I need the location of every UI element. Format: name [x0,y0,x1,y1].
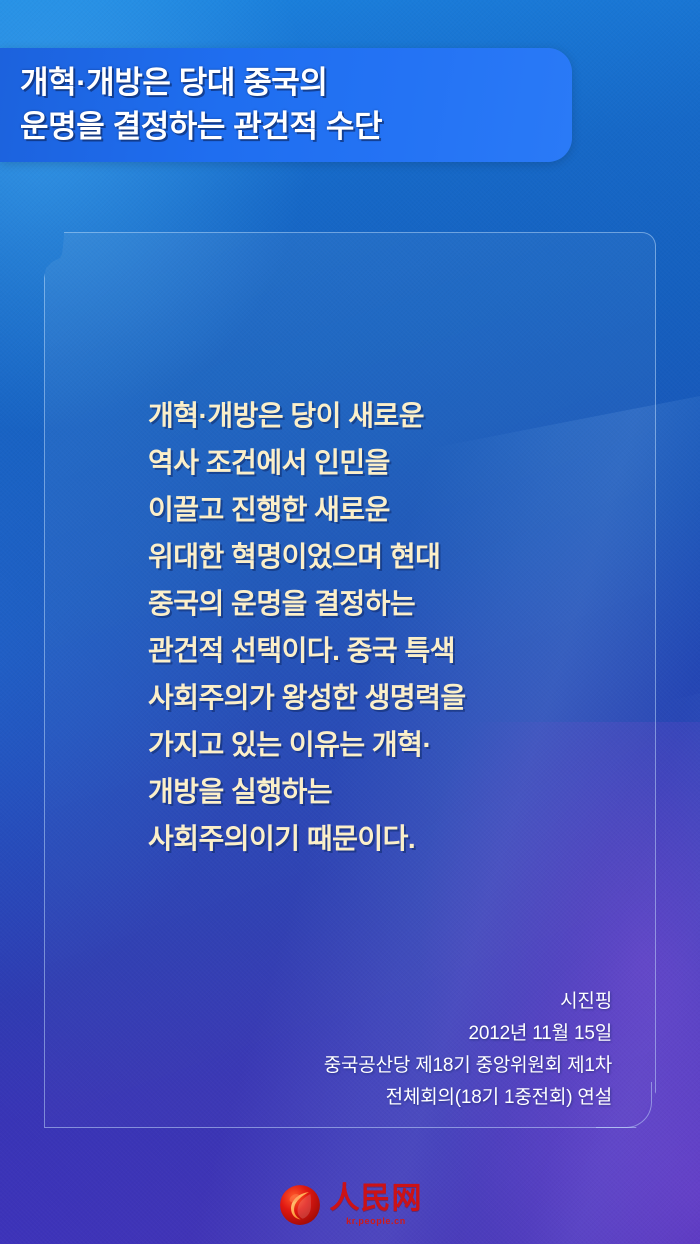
quote-line: 위대한 혁명이었으며 현대 [148,533,628,580]
quote-line: 개방을 실행하는 [148,768,628,815]
logo-wordmark: 人民网 [330,1184,423,1214]
quote-line: 관건적 선택이다. 중국 특색 [148,627,628,674]
attribution-event-line-1: 중국공산당 제18기 중앙위원회 제1차 [192,1050,612,1082]
logo-text-group: 人民网 kr.people.cn [330,1184,423,1226]
quote-text: 개혁·개방은 당이 새로운 역사 조건에서 인민을 이끌고 진행한 새로운 위대… [148,392,628,862]
page-title-line-2: 운명을 결정하는 관건적 수단 [20,106,580,148]
page-title-line-1: 개혁·개방은 당대 중국의 [20,62,580,104]
quote-line: 이끌고 진행한 새로운 [148,486,628,533]
quote-line: 역사 조건에서 인민을 [148,439,628,486]
poster-canvas: 개혁·개방은 당대 중국의 운명을 결정하는 관건적 수단 개혁·개방은 당이 … [0,0,700,1244]
attribution-date: 2012년 11월 15일 [192,1018,612,1050]
publisher-logo: 人民网 kr.people.cn [0,1176,700,1234]
page-title: 개혁·개방은 당대 중국의 운명을 결정하는 관건적 수단 [20,48,580,162]
quote-line: 중국의 운명을 결정하는 [148,580,628,627]
quote-line: 사회주의가 왕성한 생명력을 [148,674,628,721]
people-daily-globe-icon [278,1183,322,1227]
logo-url: kr.people.cn [346,1217,406,1226]
quote-line: 개혁·개방은 당이 새로운 [148,392,628,439]
quote-line: 사회주의이기 때문이다. [148,815,628,862]
attribution-block: 시진핑 2012년 11월 15일 중국공산당 제18기 중앙위원회 제1차 전… [192,986,612,1114]
attribution-speaker: 시진핑 [192,986,612,1018]
attribution-event-line-2: 전체회의(18기 1중전회) 연설 [192,1082,612,1114]
quote-line: 가지고 있는 이유는 개혁· [148,721,628,768]
